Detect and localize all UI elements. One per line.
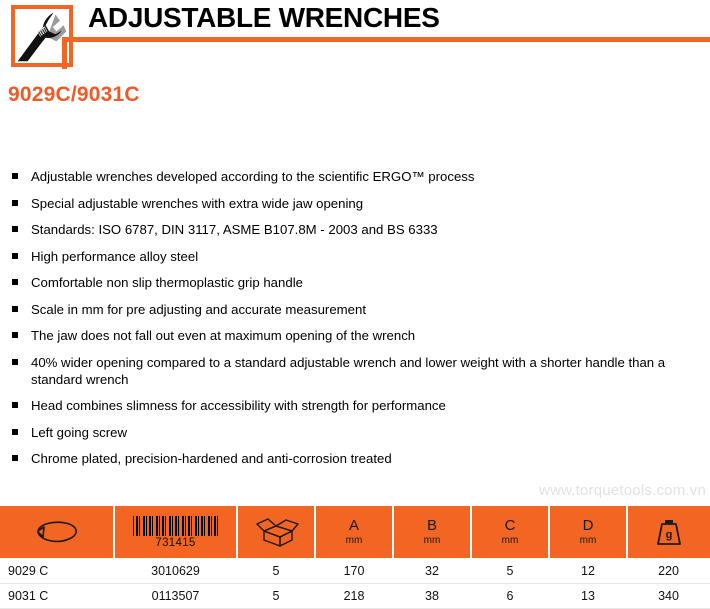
cell-ref: 9029 C: [0, 559, 114, 584]
feature-item: Standards: ISO 6787, DIN 3117, ASME B107…: [0, 221, 710, 238]
bullet-square-icon: [12, 279, 18, 285]
cell-b: 32: [393, 559, 471, 584]
specification-table: 731415 A: [0, 506, 710, 609]
feature-item: Special adjustable wrenches with extra w…: [0, 195, 710, 212]
barcode-number: 731415: [155, 537, 195, 549]
site-watermark: www.torquetools.com.vn: [539, 482, 706, 499]
feature-item: Left going screw: [0, 424, 710, 441]
bullet-square-icon: [12, 429, 18, 435]
feature-text: The jaw does not fall out even at maximu…: [31, 328, 415, 343]
table-row: 9029 C3010629517032512220: [0, 559, 710, 584]
header-cell-a: A mm: [315, 506, 393, 559]
table-body: 9029 C30106295170325122209031 C011350752…: [0, 559, 710, 609]
feature-text: Special adjustable wrenches with extra w…: [31, 196, 363, 211]
header-cell-barcode: 731415: [114, 506, 237, 559]
header-letter-d: D: [550, 517, 626, 534]
cell-b: 38: [393, 584, 471, 609]
header-cell-c: C mm: [471, 506, 549, 559]
feature-item: Chrome plated, precision-hardened and an…: [0, 450, 710, 467]
page-title: ADJUSTABLE WRENCHES: [88, 1, 440, 35]
feature-text: Left going screw: [31, 425, 127, 440]
feature-text: Head combines slimness for accessibility…: [31, 398, 446, 413]
feature-text: Scale in mm for pre adjusting and accura…: [31, 302, 366, 317]
feature-list: Adjustable wrenches developed according …: [0, 168, 710, 477]
header-cell-reference: [0, 506, 114, 559]
bullet-square-icon: [12, 306, 18, 312]
feature-item: High performance alloy steel: [0, 248, 710, 265]
bullet-square-icon: [12, 402, 18, 408]
feature-text: 40% wider opening compared to a standard…: [31, 355, 665, 387]
cell-pack: 5: [237, 559, 315, 584]
weight-icon: g: [654, 516, 684, 548]
bullet-square-icon: [12, 173, 18, 179]
header-unit-c: mm: [472, 534, 548, 547]
model-number: 9029C/9031C: [8, 83, 140, 107]
bullet-square-icon: [12, 226, 18, 232]
cell-c: 5: [471, 559, 549, 584]
feature-item: Scale in mm for pre adjusting and accura…: [0, 301, 710, 318]
feature-item: The jaw does not fall out even at maximu…: [0, 327, 710, 344]
feature-text: High performance alloy steel: [31, 249, 198, 264]
feature-item: 40% wider opening compared to a standard…: [0, 354, 710, 388]
table-header-row: 731415 A: [0, 506, 710, 559]
cell-d: 12: [549, 559, 627, 584]
header-cell-packaging: [237, 506, 315, 559]
feature-text: Comfortable non slip thermoplastic grip …: [31, 275, 303, 290]
bullet-square-icon: [12, 359, 18, 365]
wrench-outline-icon: [34, 520, 80, 544]
cell-pack: 5: [237, 584, 315, 609]
header-unit-a: mm: [316, 534, 392, 547]
header-cell-b: B mm: [393, 506, 471, 559]
cell-weight: 220: [627, 559, 710, 584]
feature-text: Adjustable wrenches developed according …: [31, 169, 474, 184]
header-letter-a: A: [316, 517, 392, 534]
cell-ref: 9031 C: [0, 584, 114, 609]
open-box-icon: [252, 515, 300, 549]
header-rule-horizontal: [62, 37, 710, 42]
adjustable-wrench-icon: [15, 9, 69, 63]
bullet-square-icon: [12, 332, 18, 338]
cell-ean: 0113507: [114, 584, 237, 609]
bullet-square-icon: [12, 253, 18, 259]
cell-c: 6: [471, 584, 549, 609]
header-letter-c: C: [472, 517, 548, 534]
cell-ean: 3010629: [114, 559, 237, 584]
weight-unit-label: g: [666, 529, 673, 541]
table-row: 9031 C0113507521838613340: [0, 584, 710, 609]
cell-weight: 340: [627, 584, 710, 609]
header-unit-d: mm: [550, 534, 626, 547]
bullet-square-icon: [12, 455, 18, 461]
cell-a: 218: [315, 584, 393, 609]
header-letter-b: B: [394, 517, 470, 534]
barcode-icon: [133, 516, 218, 536]
cell-d: 13: [549, 584, 627, 609]
header-unit-b: mm: [394, 534, 470, 547]
header-cell-d: D mm: [549, 506, 627, 559]
feature-item: Head combines slimness for accessibility…: [0, 397, 710, 414]
bullet-square-icon: [12, 200, 18, 206]
feature-text: Chrome plated, precision-hardened and an…: [31, 451, 392, 466]
feature-item: Adjustable wrenches developed according …: [0, 168, 710, 185]
header-rule-vertical: [62, 37, 67, 69]
header-cell-weight: g: [627, 506, 710, 559]
feature-text: Standards: ISO 6787, DIN 3117, ASME B107…: [31, 222, 438, 237]
feature-item: Comfortable non slip thermoplastic grip …: [0, 274, 710, 291]
cell-a: 170: [315, 559, 393, 584]
page-header: ADJUSTABLE WRENCHES 9029C/9031C: [0, 0, 710, 78]
